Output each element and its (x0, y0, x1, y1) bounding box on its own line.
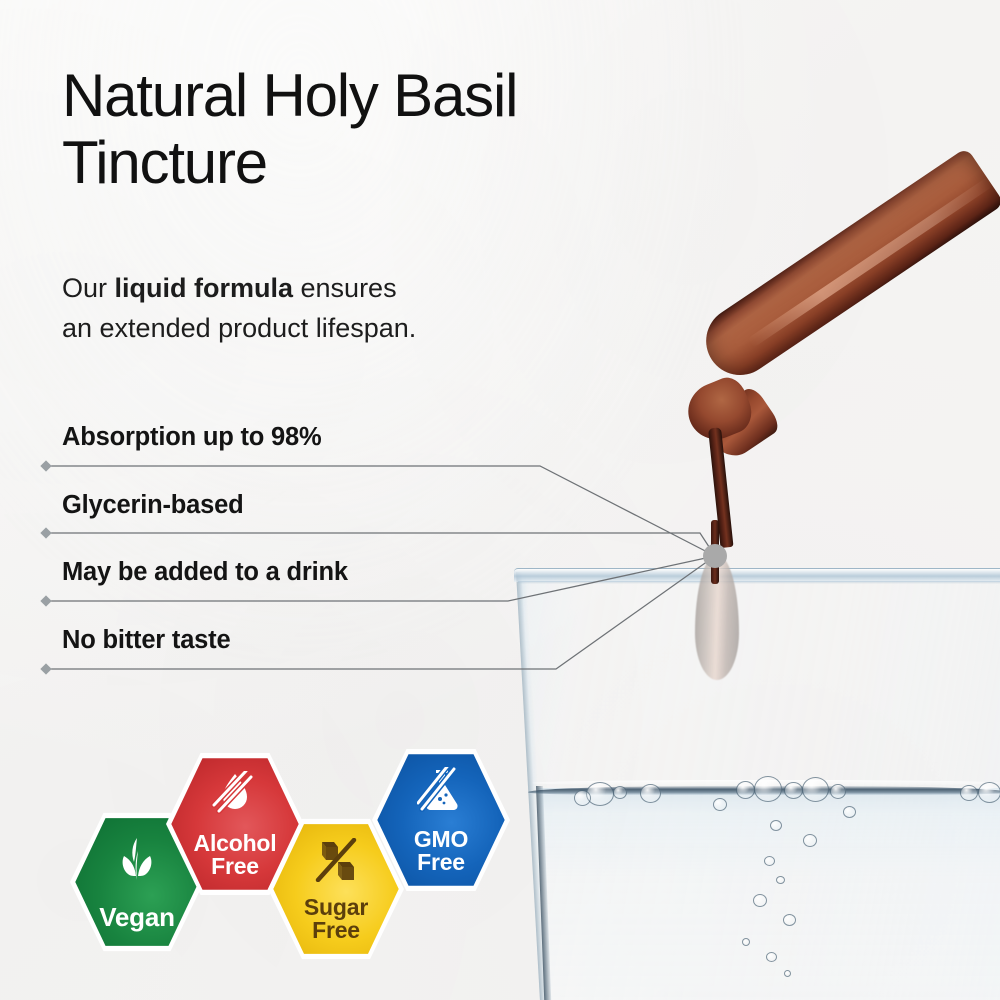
infographic-canvas: Natural Holy Basil Tincture Our liquid f… (0, 0, 1000, 1000)
feature-label-taste: No bitter taste (62, 626, 230, 655)
badge-face: GMO Free (376, 750, 506, 890)
feature-label-glycerin: Glycerin-based (62, 491, 243, 520)
feature-label-absorption: Absorption up to 98% (62, 423, 322, 452)
badge-gmo-free[interactable]: GMO Free (376, 750, 506, 890)
feature-label-drink: May be added to a drink (62, 558, 348, 587)
certification-badges: Vegan Alcohol Free (74, 748, 524, 958)
